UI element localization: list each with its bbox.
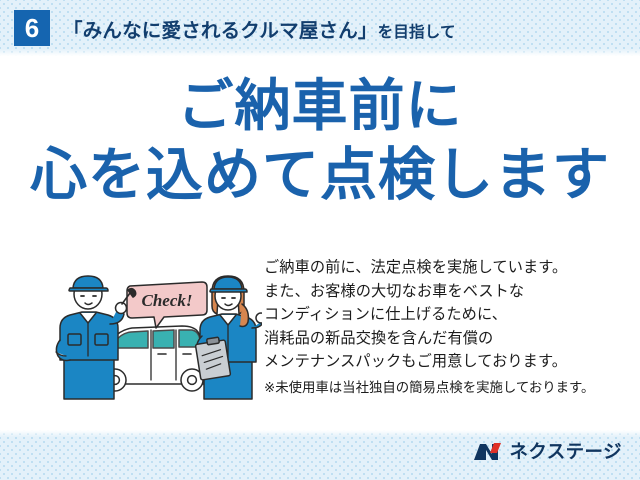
page-title: ご納車前に 心を込めて点検します bbox=[0, 78, 640, 204]
copy-line: コンディションに仕上げるために、 bbox=[264, 303, 632, 327]
header-title-suffix: を目指して bbox=[378, 20, 456, 42]
brand-name: ネクステージ bbox=[510, 443, 622, 462]
mechanics-van-illustration: Check! bbox=[52, 268, 262, 403]
check-bubble-text: Check! bbox=[142, 291, 193, 310]
headline-line-1: ご納車前に bbox=[0, 78, 640, 134]
step-number-badge: 6 bbox=[14, 10, 50, 46]
brand-logo: ネクステージ bbox=[473, 441, 622, 463]
copy-note: ※未使用車は当社独自の簡易点検を実施しております。 bbox=[264, 377, 632, 399]
header-title-main: 「みんなに愛されるクルマ屋さん」 bbox=[63, 14, 378, 43]
nextage-n-mark bbox=[473, 441, 503, 463]
headline-line-2: 心を込めて点検します bbox=[0, 147, 640, 204]
header-title: 「みんなに愛されるクルマ屋さん」 を目指して bbox=[63, 14, 456, 43]
promo-page: 6 「みんなに愛されるクルマ屋さん」 を目指して ご納車前に 心を込めて点検しま… bbox=[0, 0, 640, 480]
copy-line: メンテナンスパックもご用意しております。 bbox=[264, 350, 632, 374]
body-copy: ご納車の前に、法定点検を実施しています。 また、お客様の大切なお車をベストな コ… bbox=[264, 256, 632, 399]
copy-line: ご納車の前に、法定点検を実施しています。 bbox=[264, 256, 632, 280]
copy-line: また、お客様の大切なお車をベストな bbox=[264, 280, 632, 304]
copy-line: 消耗品の新品交換を含んだ有償の bbox=[264, 327, 632, 351]
header: 6 「みんなに愛されるクルマ屋さん」 を目指して bbox=[0, 0, 640, 56]
